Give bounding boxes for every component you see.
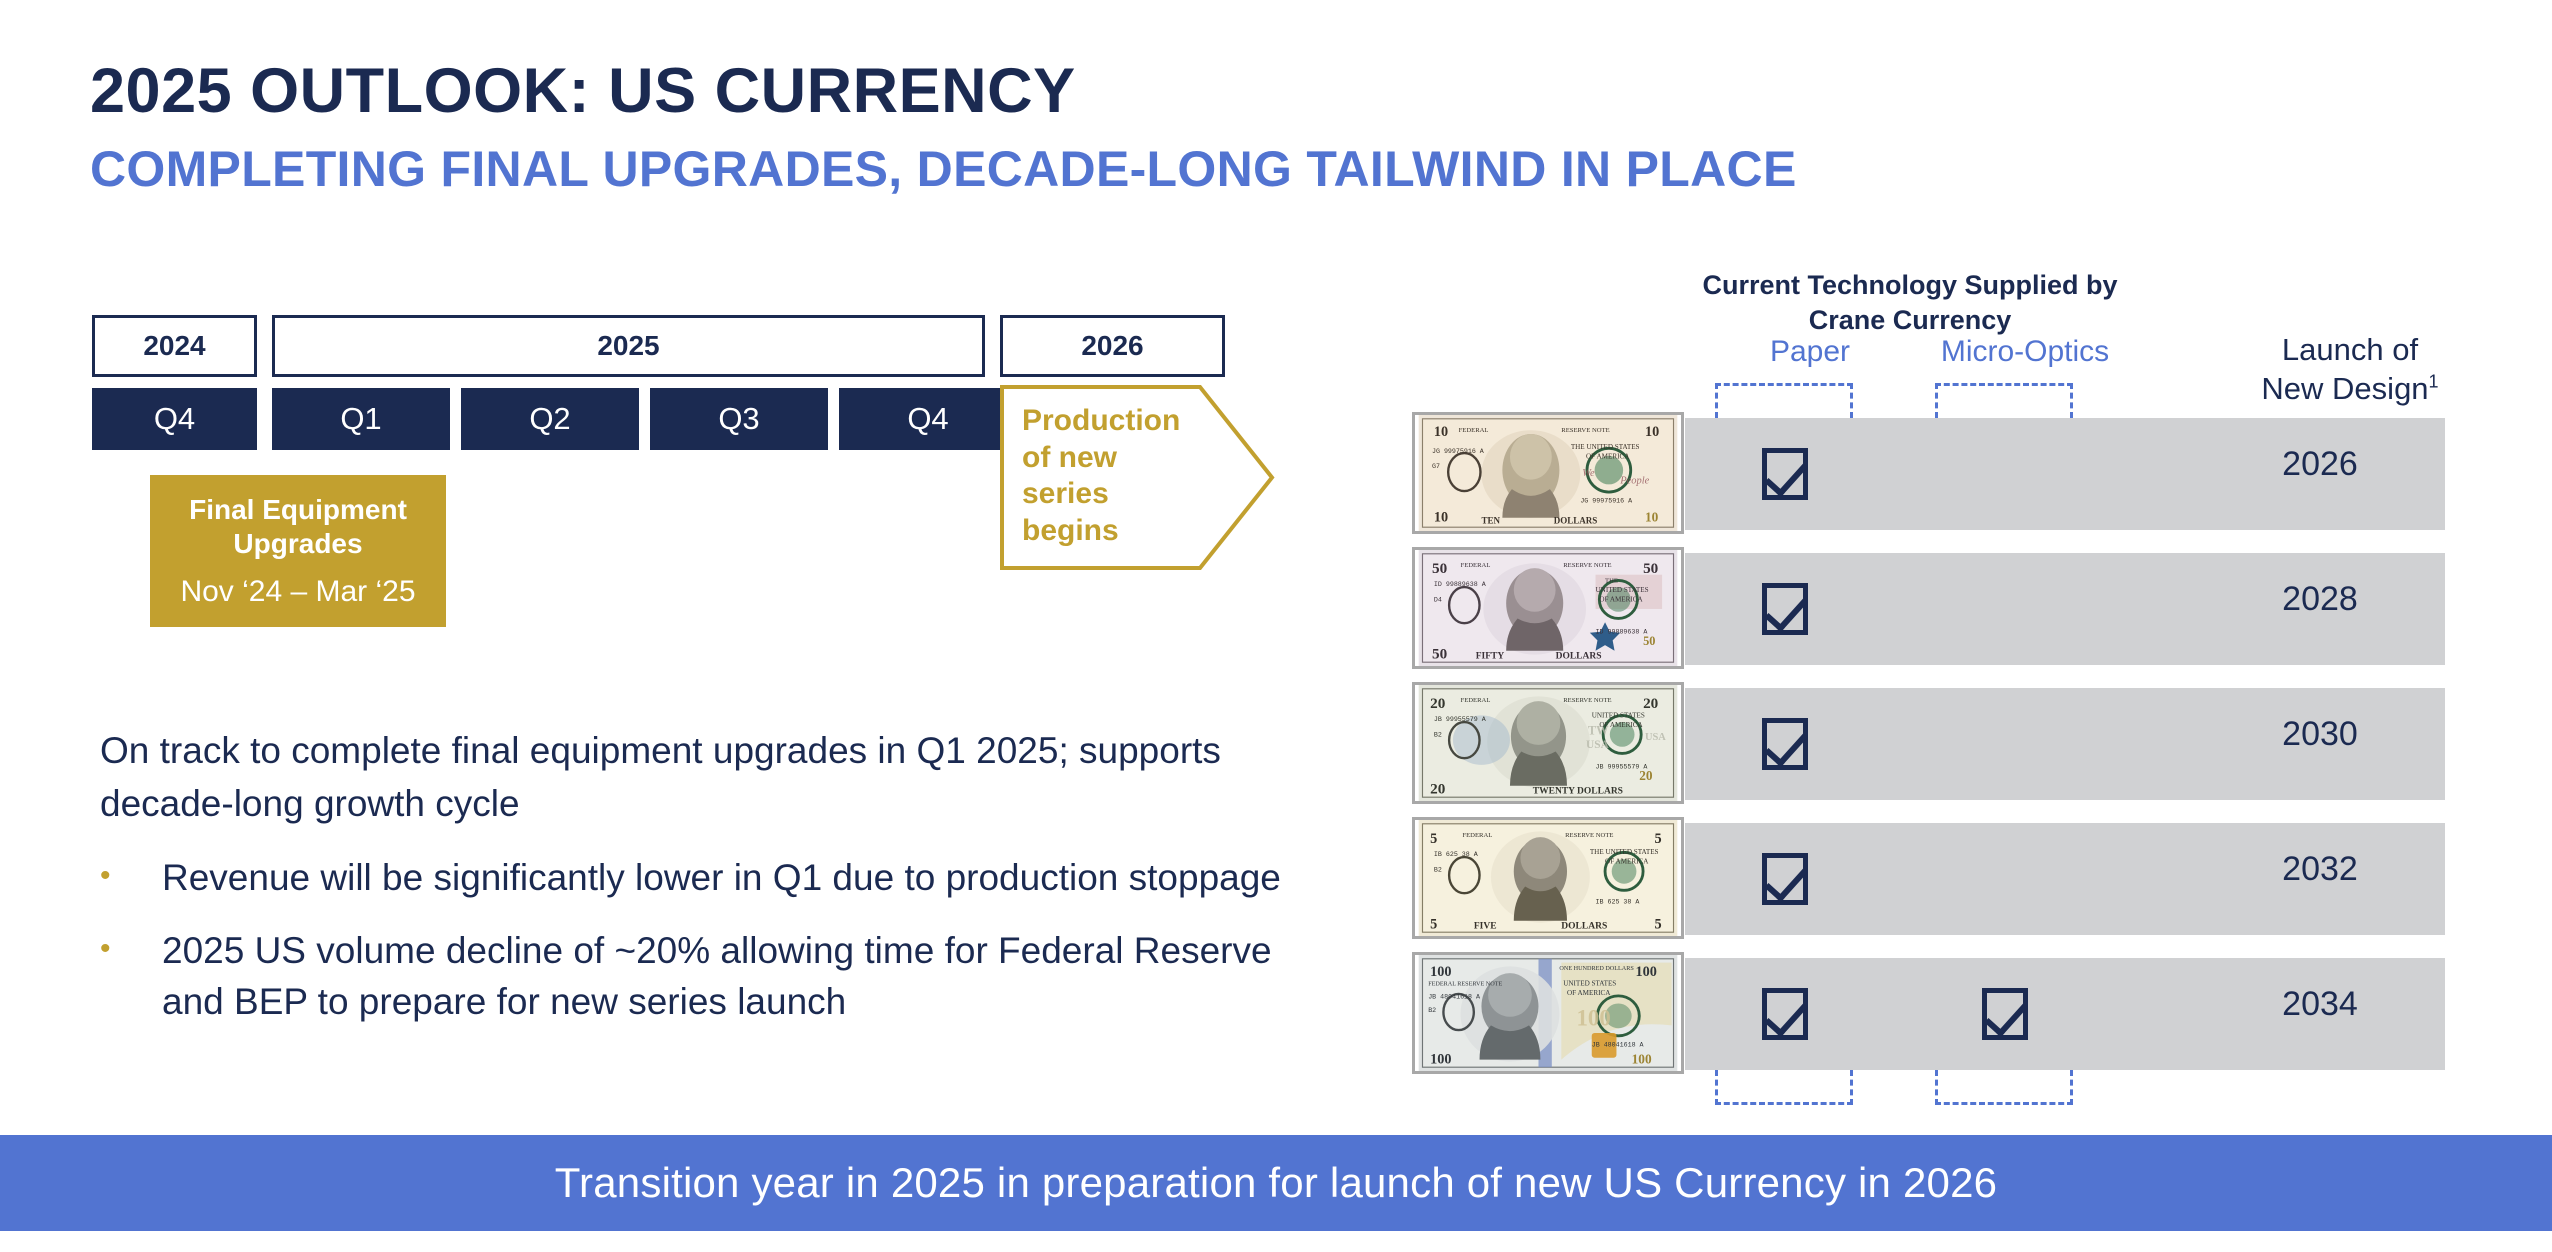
svg-text:JG 99975916 A: JG 99975916 A: [1580, 496, 1632, 504]
table-group-header: Current Technology Supplied by Crane Cur…: [1685, 268, 2135, 337]
svg-text:UNITED STATES: UNITED STATES: [1592, 711, 1645, 719]
checkbox-checked-micro-optics-100[interactable]: [1982, 988, 2028, 1040]
footer-banner: Transition year in 2025 in preparation f…: [0, 1135, 2552, 1231]
svg-text:USA: USA: [1586, 739, 1610, 751]
bullet-text: 2025 US volume decline of ~20% allowing …: [162, 925, 1330, 1027]
svg-text:IB 625 38 A: IB 625 38 A: [1596, 898, 1640, 906]
svg-text:TEN: TEN: [1481, 515, 1500, 525]
svg-text:OF AMERICA: OF AMERICA: [1567, 989, 1611, 997]
lead-paragraph: On track to complete final equipment upg…: [100, 725, 1290, 830]
svg-text:100: 100: [1430, 964, 1451, 980]
svg-text:JB 99955579 A: JB 99955579 A: [1596, 763, 1648, 771]
timeline-year-2026: 2026: [1000, 315, 1225, 377]
timeline-year-label: 2024: [143, 330, 205, 362]
svg-text:D4: D4: [1434, 595, 1442, 603]
svg-text:UNITED STATES: UNITED STATES: [1563, 979, 1616, 987]
banknote-50: 50 50 50 50 FEDERAL RESERVE NOTE THE UNI…: [1412, 547, 1684, 669]
bullet-marker-icon: •: [100, 925, 162, 1027]
svg-text:FEDERAL RESERVE NOTE: FEDERAL RESERVE NOTE: [1428, 980, 1502, 987]
svg-text:10: 10: [1434, 424, 1448, 440]
svg-text:10: 10: [1434, 509, 1448, 525]
banknote-20: TW USA USA 20 20 20 20 FEDERAL RESERVE N…: [1412, 682, 1684, 804]
svg-text:IB 625 38 A: IB 625 38 A: [1434, 850, 1478, 858]
svg-text:ONE HUNDRED DOLLARS: ONE HUNDRED DOLLARS: [1559, 965, 1634, 972]
svg-text:FIFTY: FIFTY: [1476, 651, 1505, 661]
timeline-quarter-2025-q3: Q3: [650, 388, 828, 450]
svg-text:THE UNITED STATES: THE UNITED STATES: [1590, 848, 1659, 856]
timeline-quarter-label: Q4: [907, 401, 948, 437]
launch-year-value: 2030: [2210, 715, 2430, 754]
column-bracket-micro-optics-top: [1935, 383, 2073, 418]
column-bracket-paper-bottom: [1715, 1070, 1853, 1105]
launch-header-line2: New Design: [2261, 371, 2428, 406]
svg-text:B2: B2: [1428, 1006, 1436, 1014]
svg-text:RESERVE NOTE: RESERVE NOTE: [1563, 562, 1611, 569]
timeline-quarter-label: Q3: [718, 401, 759, 437]
svg-text:5: 5: [1430, 916, 1437, 932]
svg-text:DOLLARS: DOLLARS: [1556, 651, 1602, 661]
launch-year-value: 2028: [2210, 580, 2430, 619]
column-bracket-micro-optics-bottom: [1935, 1070, 2073, 1105]
checkbox-checked-paper-5[interactable]: [1762, 853, 1808, 905]
timeline-quarter-label: Q1: [340, 401, 381, 437]
production-callout-label: Production of new series begins: [1022, 403, 1192, 549]
svg-text:20: 20: [1430, 695, 1446, 712]
svg-text:JB 99955579 A: JB 99955579 A: [1434, 715, 1486, 723]
svg-text:B2: B2: [1434, 730, 1442, 738]
svg-text:FEDERAL: FEDERAL: [1462, 832, 1492, 839]
svg-text:100: 100: [1577, 1005, 1611, 1030]
column-header-paper: Paper: [1715, 335, 1905, 369]
svg-text:5: 5: [1430, 831, 1437, 847]
launch-year-value: 2034: [2210, 985, 2430, 1024]
column-bracket-paper-top: [1715, 383, 1853, 418]
svg-text:USA: USA: [1645, 732, 1666, 743]
svg-text:THE UNITED STATES: THE UNITED STATES: [1571, 443, 1640, 451]
svg-text:G7: G7: [1432, 462, 1440, 470]
banknote-100: 100 100 100 100 100 ONE HUNDRED DOLLARS …: [1412, 952, 1684, 1074]
timeline-year-label: 2025: [597, 330, 659, 362]
svg-text:RESERVE NOTE: RESERVE NOTE: [1565, 832, 1613, 839]
svg-text:100: 100: [1632, 1051, 1652, 1066]
launch-year-value: 2026: [2210, 445, 2430, 484]
svg-text:10: 10: [1645, 509, 1659, 524]
svg-text:100: 100: [1430, 1051, 1451, 1067]
column-header-launch-of-new-design: Launch of New Design1: [2215, 330, 2485, 408]
svg-text:RESERVE NOTE: RESERVE NOTE: [1561, 427, 1609, 434]
svg-text:DOLLARS: DOLLARS: [1554, 515, 1598, 525]
timeline-quarter-label: Q4: [154, 401, 195, 437]
timeline-quarter-2025-q1: Q1: [272, 388, 450, 450]
footer-text: Transition year in 2025 in preparation f…: [555, 1159, 1997, 1207]
svg-text:ID 99889638 A: ID 99889638 A: [1596, 628, 1648, 636]
svg-text:RESERVE NOTE: RESERVE NOTE: [1563, 697, 1611, 704]
timeline-year-2025: 2025: [272, 315, 985, 377]
checkbox-checked-paper-50[interactable]: [1762, 583, 1808, 635]
svg-text:5: 5: [1654, 831, 1661, 847]
svg-text:ID 99889638 A: ID 99889638 A: [1434, 580, 1486, 588]
timeline-quarter-label: Q2: [529, 401, 570, 437]
timeline-year-2024: 2024: [92, 315, 257, 377]
svg-text:FIVE: FIVE: [1474, 921, 1497, 931]
svg-text:50: 50: [1643, 634, 1655, 648]
svg-text:OF AMERICA: OF AMERICA: [1599, 721, 1643, 729]
svg-text:5: 5: [1654, 916, 1661, 932]
launch-header-line1: Launch of: [2282, 332, 2418, 367]
timeline-year-label: 2026: [1081, 330, 1143, 362]
svg-text:THE: THE: [1605, 577, 1618, 584]
svg-text:TWENTY DOLLARS: TWENTY DOLLARS: [1533, 786, 1623, 796]
svg-text:FEDERAL: FEDERAL: [1461, 697, 1491, 704]
slide-root: 2025 OUTLOOK: US CURRENCY COMPLETING FIN…: [0, 0, 2552, 1252]
timeline-quarter-2025-q2: Q2: [461, 388, 639, 450]
bullet-marker-icon: •: [100, 852, 162, 903]
svg-text:People: People: [1619, 475, 1649, 486]
timeline-quarter-2025-q4: Q4: [839, 388, 1017, 450]
checkbox-checked-paper-100[interactable]: [1762, 988, 1808, 1040]
launch-year-value: 2032: [2210, 850, 2430, 889]
bullet-list: • Revenue will be significantly lower in…: [100, 830, 1330, 1027]
timeline-quarter-2024-q4: Q4: [92, 388, 257, 450]
svg-text:We: We: [1582, 468, 1595, 479]
bullet-text: Revenue will be significantly lower in Q…: [162, 852, 1330, 903]
svg-text:10: 10: [1645, 424, 1659, 440]
svg-text:50: 50: [1432, 645, 1448, 662]
svg-text:50: 50: [1643, 560, 1659, 577]
milestone-final-equipment-upgrades: Final Equipment Upgrades Nov ‘24 – Mar ‘…: [150, 475, 446, 627]
checkbox-checked-paper-20[interactable]: [1762, 718, 1808, 770]
svg-text:B2: B2: [1434, 865, 1442, 873]
svg-text:JB 48041618 A: JB 48041618 A: [1428, 993, 1480, 1001]
milestone-title: Final Equipment Upgrades: [150, 493, 446, 560]
page-subtitle: COMPLETING FINAL UPGRADES, DECADE-LONG T…: [90, 140, 1797, 198]
svg-text:50: 50: [1432, 560, 1448, 577]
banknote-10: 10 10 10 10 FEDERAL RESERVE NOTE THE UNI…: [1412, 412, 1684, 534]
svg-text:20: 20: [1643, 695, 1659, 712]
svg-text:OF AMERICA: OF AMERICA: [1586, 453, 1630, 461]
svg-text:100: 100: [1635, 964, 1656, 980]
svg-text:OF AMERICA: OF AMERICA: [1605, 858, 1649, 866]
svg-text:UNITED STATES: UNITED STATES: [1596, 586, 1649, 594]
banknote-5: 5 5 5 5 FEDERAL RESERVE NOTE THE UNITED …: [1412, 817, 1684, 939]
svg-text:JG 99975916 A: JG 99975916 A: [1432, 447, 1484, 455]
milestone-dates: Nov ‘24 – Mar ‘25: [180, 575, 415, 609]
svg-text:JB 48041618 A: JB 48041618 A: [1592, 1040, 1644, 1048]
checkbox-checked-paper-10[interactable]: [1762, 448, 1808, 500]
page-title: 2025 OUTLOOK: US CURRENCY: [90, 55, 1076, 127]
svg-text:OF AMERICA: OF AMERICA: [1599, 595, 1643, 603]
svg-text:FEDERAL: FEDERAL: [1461, 562, 1491, 569]
svg-text:20: 20: [1430, 780, 1446, 797]
svg-text:FEDERAL: FEDERAL: [1459, 427, 1489, 434]
column-header-micro-optics: Micro-Optics: [1895, 335, 2155, 369]
list-item: • Revenue will be significantly lower in…: [100, 852, 1330, 903]
launch-header-footnote: 1: [2429, 372, 2439, 392]
list-item: • 2025 US volume decline of ~20% allowin…: [100, 925, 1330, 1027]
svg-text:DOLLARS: DOLLARS: [1561, 921, 1607, 931]
production-callout-arrow: Production of new series begins: [1000, 385, 1275, 570]
